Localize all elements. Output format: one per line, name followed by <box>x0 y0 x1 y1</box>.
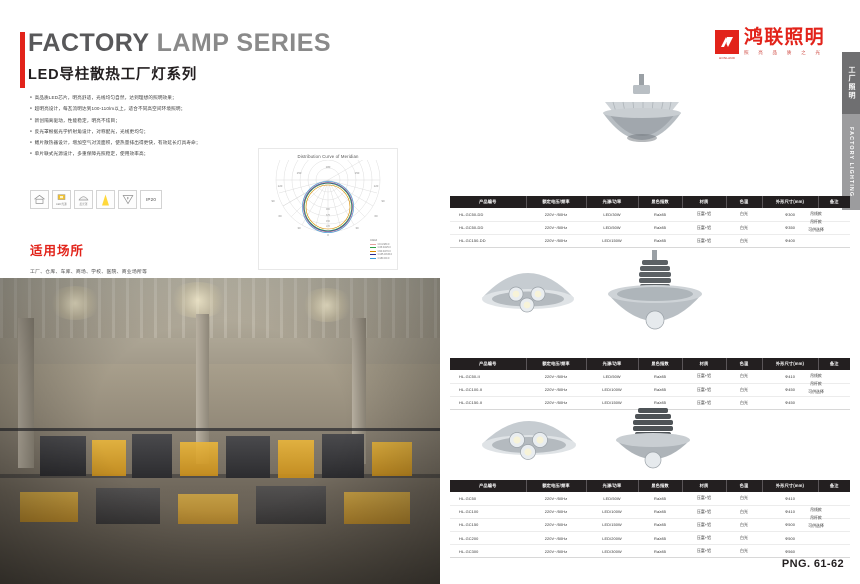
cell-model: HL-GC300 <box>450 545 526 558</box>
cell-cri: Ra≥85 <box>638 518 682 531</box>
cell-remark <box>818 492 850 505</box>
ip-rating-icon: IP20 <box>140 190 162 209</box>
page-title: FACTORY LAMP SERIES <box>28 30 428 56</box>
cell-voltage: 220V~/50Hz <box>526 492 586 505</box>
page-number: PNG. 61-62 <box>782 558 844 570</box>
cell-size: Φ410 <box>762 492 818 505</box>
th-remark: 备注 <box>818 358 850 370</box>
cell-cri: Ra≥85 <box>638 505 682 518</box>
feature-item: 新创隔离驱动，性能稳定，明亮不炫目； <box>30 115 330 126</box>
note-line: 吊杆款 <box>784 380 848 388</box>
th-material: 材质 <box>682 480 726 492</box>
cell-material: 压富+铝 <box>682 505 726 518</box>
cell-voltage: 220V~/50Hz <box>526 531 586 544</box>
indoor-icon <box>30 190 49 209</box>
cell-model: HL-GC100-II <box>450 383 526 396</box>
logo-slogan: 照 亮 品 质 之 光 <box>744 50 825 56</box>
svg-text:30: 30 <box>355 226 359 230</box>
class-f-icon: F <box>118 190 137 209</box>
logo-text: 鸿联照明 照 亮 品 质 之 光 <box>744 28 825 56</box>
feature-item: 超明亮设计，每瓦流明达到100-110lm以上，适合不同高空间环境照明； <box>30 103 330 114</box>
cell-cri: Ra≥85 <box>638 383 682 396</box>
title-rest: LAMP SERIES <box>149 29 331 57</box>
factory-photo: HONLAND PRODUCT HANDBOOK WWW.HONLAND-LIG… <box>0 278 440 584</box>
svg-text:675: 675 <box>326 214 331 217</box>
th-remark: 备注 <box>818 480 850 492</box>
cell-source: LED/100W <box>586 505 638 518</box>
logo-chinese-name: 鸿联照明 <box>744 28 825 47</box>
cell-size: Φ500 <box>762 531 818 544</box>
cell-cct: 白光 <box>726 370 762 383</box>
led-chip-icon: LED光源 <box>52 190 71 209</box>
th-cri: 显色指数 <box>638 480 682 492</box>
legend-swatch <box>370 244 376 245</box>
cell-source: LED/150W <box>586 234 638 247</box>
cell-cri: Ra≥85 <box>638 492 682 505</box>
svg-text:120: 120 <box>278 184 283 188</box>
legend-swatch <box>370 251 376 252</box>
distribution-curve-chart: Distribution Curve of Meridian <box>258 148 398 270</box>
cell-remark <box>818 234 850 247</box>
table-header-row: 产品编号 额定电压/频率 光源/功率 显色指数 材质 色温 外形尺寸(mm) 备… <box>450 480 850 492</box>
cell-cri: Ra≥85 <box>638 370 682 383</box>
cell-cri: Ra≥85 <box>638 545 682 558</box>
cell-material: 压富+铝 <box>682 370 726 383</box>
cell-model: HL-GC50-II <box>450 370 526 383</box>
title-block: FACTORY LAMP SERIES LED导柱散热工厂灯系列 <box>28 30 428 84</box>
svg-text:150: 150 <box>355 171 360 175</box>
table-row: HL-GC150-DD 220V~/50Hz LED/150W Ra≥85 压富… <box>450 234 850 247</box>
cell-size: Φ560 <box>762 545 818 558</box>
cell-cri: Ra≥85 <box>638 531 682 544</box>
note-line: 吊杆款 <box>784 218 848 226</box>
lamp-product-image-front <box>468 252 588 342</box>
th-voltage: 额定电压/频率 <box>526 480 586 492</box>
legend-swatch <box>370 247 376 248</box>
product-image-row-3 <box>440 402 860 474</box>
lamp-shade-caption: 反光罩 <box>79 202 87 206</box>
cell-voltage: 220V~/50Hz <box>526 505 586 518</box>
th-remark: 备注 <box>818 196 850 208</box>
th-material: 材质 <box>682 358 726 370</box>
feature-item: 鳍片散热器设计，增加空气对流面积，使热量排出得更快，有效延长灯具寿命； <box>30 137 330 148</box>
table-header-row: 产品编号 额定电压/频率 光源/功率 显色指数 材质 色温 外形尺寸(mm) 备… <box>450 196 850 208</box>
cell-material: 压富+铝 <box>682 208 726 221</box>
cell-source: LED/50W <box>586 221 638 234</box>
cell-model: HL-GC200 <box>450 531 526 544</box>
th-cct: 色温 <box>726 480 762 492</box>
svg-text:180: 180 <box>326 165 331 169</box>
cell-remark <box>818 545 850 558</box>
cell-voltage: 220V~/50Hz <box>526 234 586 247</box>
th-source: 光源/功率 <box>586 480 638 492</box>
note-line: 吊线款 <box>784 372 848 380</box>
page-subtitle: LED导柱散热工厂灯系列 <box>28 63 428 84</box>
legend-item: C180.0/0.0 <box>370 257 392 260</box>
photo-vignette <box>0 278 440 584</box>
note-line: 吊杆款 <box>784 514 848 522</box>
legend-swatch <box>370 258 376 259</box>
table-note-2: 吊线款 吊杆款 可供选择 <box>784 372 848 395</box>
th-cct: 色温 <box>726 196 762 208</box>
cell-size: Φ400 <box>762 234 818 247</box>
product-image-row-2 <box>440 248 860 340</box>
note-line: 可供选择 <box>784 522 848 530</box>
table-note-3: 吊线款 吊杆款 可供选择 <box>784 506 848 529</box>
note-line: 吊线款 <box>784 506 848 514</box>
feature-item: 高品质LED芯片，明亮舒适，光线均匀自然，达到理想的照明效果； <box>30 92 330 103</box>
applicable-places-text: 工厂、仓库、车库、商场、学校、医院、商业场所等 <box>30 268 147 275</box>
cell-remark <box>818 531 850 544</box>
table-row: HL-GC300 220V~/50Hz LED/300W Ra≥85 压富+铝 … <box>450 545 850 558</box>
lamp-product-image-heatsink <box>590 402 720 474</box>
cell-voltage: 220V~/50Hz <box>526 545 586 558</box>
note-line: 可供选择 <box>784 388 848 396</box>
chart-legend: C0/cd C0.0/180.0 C45.0/225.0 C90.0/270.0… <box>370 239 392 260</box>
th-model: 产品编号 <box>450 358 526 370</box>
svg-text:0: 0 <box>327 233 329 237</box>
svg-text:F: F <box>126 196 129 201</box>
cell-material: 压富+铝 <box>682 234 726 247</box>
cell-model: HL-GC100 <box>450 505 526 518</box>
cell-cct: 白光 <box>726 518 762 531</box>
title-accent-bar <box>20 32 25 88</box>
cell-model: HL-GC150 <box>450 518 526 531</box>
right-column: HONLAND 鸿联照明 照 亮 品 质 之 光 工厂照明 FACTORY LI… <box>440 0 860 584</box>
svg-text:30: 30 <box>297 226 301 230</box>
feature-item: 反光罩根据光学折射角设计，对称配光，光线更均匀； <box>30 126 330 137</box>
cell-voltage: 220V~/50Hz <box>526 208 586 221</box>
th-cri: 显色指数 <box>638 358 682 370</box>
table-row: HL-GC200 220V~/50Hz LED/200W Ra≥85 压富+铝 … <box>450 531 850 544</box>
legend-label: C180.0/0.0 <box>378 257 390 260</box>
th-cri: 显色指数 <box>638 196 682 208</box>
lamp-product-image-angled <box>582 248 732 342</box>
cell-cct: 白光 <box>726 545 762 558</box>
cell-source: LED/200W <box>586 531 638 544</box>
th-size: 外形尺寸(mm) <box>762 358 818 370</box>
th-voltage: 额定电压/频率 <box>526 358 586 370</box>
product-group-3: 产品编号 额定电压/频率 光源/功率 显色指数 材质 色温 外形尺寸(mm) 备… <box>440 402 860 474</box>
th-size: 外形尺寸(mm) <box>762 480 818 492</box>
cell-cct: 白光 <box>726 492 762 505</box>
th-cct: 色温 <box>726 358 762 370</box>
logo-mark-icon: HONLAND <box>715 30 739 54</box>
legend-title: C0/cd <box>370 239 392 242</box>
cell-model: HL-GC50-DD <box>450 221 526 234</box>
cell-cri: Ra≥85 <box>638 208 682 221</box>
th-voltage: 额定电压/频率 <box>526 196 586 208</box>
th-source: 光源/功率 <box>586 358 638 370</box>
svg-text:225: 225 <box>326 225 331 228</box>
product-group-1: 产品编号 额定电压/频率 光源/功率 显色指数 材质 色温 外形尺寸(mm) 备… <box>440 70 860 162</box>
led-chip-caption: LED光源 <box>56 202 67 206</box>
cell-source: LED/150W <box>586 518 638 531</box>
th-source: 光源/功率 <box>586 196 638 208</box>
svg-text:450: 450 <box>326 220 331 223</box>
table-note-1: 吊线款 吊杆款 可供选择 <box>784 210 848 233</box>
cell-cct: 白光 <box>726 531 762 544</box>
chart-title: Distribution Curve of Meridian <box>259 154 397 159</box>
svg-text:150: 150 <box>297 171 302 175</box>
cell-material: 压富+铝 <box>682 518 726 531</box>
cell-model: HL-GC50 <box>450 492 526 505</box>
cell-cct: 白光 <box>726 505 762 518</box>
cell-cct: 白光 <box>726 208 762 221</box>
cell-material: 压富+铝 <box>682 545 726 558</box>
cell-model: HL-GC50-DD <box>450 208 526 221</box>
svg-text:90: 90 <box>271 199 275 203</box>
svg-text:120: 120 <box>374 184 379 188</box>
light-beam-icon <box>96 190 115 209</box>
applicable-places-heading: 适用场所 <box>30 240 147 259</box>
th-material: 材质 <box>682 196 726 208</box>
note-line: 吊线款 <box>784 210 848 218</box>
cell-material: 压富+铝 <box>682 221 726 234</box>
cell-source: LED/30W <box>586 208 638 221</box>
cell-source: LED/50W <box>586 370 638 383</box>
lamp-product-image-front <box>470 404 588 476</box>
cell-cri: Ra≥85 <box>638 234 682 247</box>
brand-logo: HONLAND 鸿联照明 照 亮 品 质 之 光 <box>715 28 825 56</box>
applicable-places-section: 适用场所 工厂、仓库、车库、商场、学校、医院、商业场所等 <box>30 240 147 275</box>
cell-voltage: 220V~/50Hz <box>526 518 586 531</box>
lamp-product-image <box>575 72 710 164</box>
cell-source: LED/100W <box>586 383 638 396</box>
cell-cct: 白光 <box>726 221 762 234</box>
table-header-row: 产品编号 额定电压/频率 光源/功率 显色指数 材质 色温 外形尺寸(mm) 备… <box>450 358 850 370</box>
logo-mark-caption: HONLAND <box>715 56 739 60</box>
cell-voltage: 220V~/50Hz <box>526 221 586 234</box>
svg-text:60: 60 <box>374 214 378 218</box>
catalog-page: FACTORY LAMP SERIES LED导柱散热工厂灯系列 高品质LED芯… <box>0 0 860 584</box>
cell-material: 压富+铝 <box>682 531 726 544</box>
cell-cri: Ra≥85 <box>638 221 682 234</box>
title-strong: FACTORY <box>28 29 149 57</box>
spec-icon-strip: LED光源 反光罩 F IP20 <box>30 190 162 209</box>
cell-voltage: 220V~/50Hz <box>526 370 586 383</box>
product-group-2: 产品编号 额定电压/频率 光源/功率 显色指数 材质 色温 外形尺寸(mm) 备… <box>440 248 860 340</box>
left-column: FACTORY LAMP SERIES LED导柱散热工厂灯系列 高品质LED芯… <box>0 0 440 584</box>
th-model: 产品编号 <box>450 196 526 208</box>
svg-text:60: 60 <box>278 214 282 218</box>
cell-material: 压富+铝 <box>682 383 726 396</box>
cell-model: HL-GC150-DD <box>450 234 526 247</box>
product-image-row-1 <box>440 70 860 162</box>
svg-text:900: 900 <box>326 208 331 211</box>
th-size: 外形尺寸(mm) <box>762 196 818 208</box>
th-model: 产品编号 <box>450 480 526 492</box>
lamp-shade-icon: 反光罩 <box>74 190 93 209</box>
cell-voltage: 220V~/50Hz <box>526 383 586 396</box>
cell-material: 压富+铝 <box>682 492 726 505</box>
legend-swatch <box>370 254 376 255</box>
cell-cct: 白光 <box>726 383 762 396</box>
note-line: 可供选择 <box>784 226 848 234</box>
cell-cct: 白光 <box>726 234 762 247</box>
cell-source: LED/50W <box>586 492 638 505</box>
cell-source: LED/300W <box>586 545 638 558</box>
table-row: HL-GC50 220V~/50Hz LED/50W Ra≥85 压富+铝 白光… <box>450 492 850 505</box>
svg-text:90: 90 <box>381 199 385 203</box>
